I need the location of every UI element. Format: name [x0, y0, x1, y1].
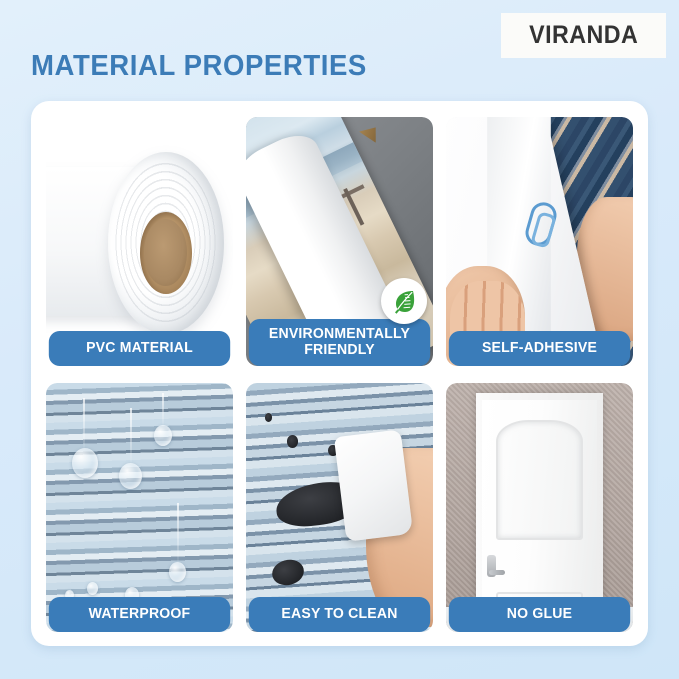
- hands-peeling-adhesive-sheet-photo: [446, 117, 633, 366]
- feature-cell-pvc-material[interactable]: PVC MATERIAL: [46, 117, 233, 366]
- features-card: PVC MATERIAL: [31, 101, 648, 646]
- page-title: MATERIAL PROPERTIES: [31, 50, 367, 83]
- feature-cell-no-glue[interactable]: NO GLUE: [446, 383, 633, 632]
- brand-logo: VIRANDA: [501, 13, 666, 58]
- feature-label-no-glue: NO GLUE: [449, 597, 630, 632]
- infographic-page: VIRANDA MATERIAL PROPERTIES PVC MATERIAL: [0, 0, 679, 679]
- eco-badge: [381, 278, 427, 324]
- leaf-icon: [390, 287, 418, 315]
- feature-label-waterproof: WATERPROOF: [49, 597, 230, 632]
- door-handle-icon: [487, 555, 496, 577]
- feature-label-self-adhesive: SELF-ADHESIVE: [449, 331, 630, 366]
- feature-cell-easy-to-clean[interactable]: EASY TO CLEAN: [246, 383, 433, 632]
- white-door-photo: [446, 383, 633, 632]
- feature-label-easy-to-clean: EASY TO CLEAN: [249, 597, 430, 632]
- feature-cell-waterproof[interactable]: WATERPROOF: [46, 383, 233, 632]
- water-droplets-on-wood-photo: [46, 383, 233, 632]
- feature-label-pvc-material: PVC MATERIAL: [49, 331, 230, 366]
- brand-logo-text: VIRANDA: [529, 21, 638, 50]
- feature-cell-self-adhesive[interactable]: SELF-ADHESIVE: [446, 117, 633, 366]
- feature-label-environmentally-friendly: ENVIRONMENTALLY FRIENDLY: [249, 319, 430, 366]
- hand-wiping-stains-with-cloth-photo: [246, 383, 433, 632]
- feature-cell-environmentally-friendly[interactable]: ENVIRONMENTALLY FRIENDLY: [246, 117, 433, 366]
- features-grid: PVC MATERIAL: [46, 117, 633, 632]
- pvc-roll-photo: [46, 117, 233, 366]
